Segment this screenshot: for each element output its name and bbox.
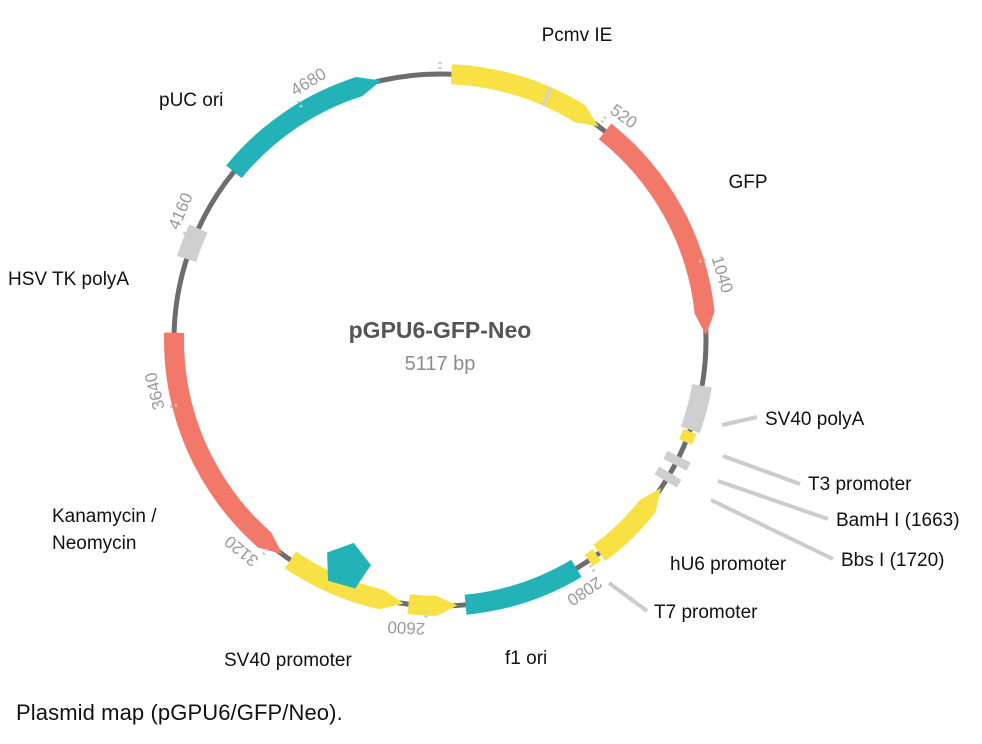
plasmid-map-figure: 5201040208026003120364041604680 Pcmv IEG…: [0, 0, 982, 744]
leader-t3: [723, 456, 800, 484]
tick-1040-label: 1040: [708, 254, 737, 296]
feature-bbs-i-site[interactable]: [657, 470, 679, 483]
label-hsv-tk-polya: HSV TK polyA: [8, 269, 129, 290]
figure-caption: Plasmid map (pGPU6/GFP/Neo).: [16, 700, 343, 726]
label-t3-promoter: T3 promoter: [808, 474, 912, 495]
leader-t7: [609, 583, 647, 611]
plasmid-name: pGPU6-GFP-Neo: [349, 317, 532, 343]
feature-gfp[interactable]: [599, 124, 715, 336]
feature-sv40-polya[interactable]: [681, 384, 712, 433]
tick-520-mark: [602, 114, 608, 122]
tick-2600-label: 2600: [387, 617, 426, 638]
feature-bamh-i-site[interactable]: [665, 455, 688, 467]
label-bbs-i: Bbs I (1720): [841, 550, 945, 571]
label-bamh-i: BamH I (1663): [836, 510, 960, 531]
tick-2080-mark: [590, 566, 596, 574]
feature-hu6-promoter[interactable]: [593, 488, 661, 561]
feature-f1-ori[interactable]: [465, 560, 582, 615]
label-sv40-polya: SV40 polyA: [765, 409, 865, 430]
tick-3640-label: 3640: [141, 370, 169, 411]
label-gfp: GFP: [728, 172, 767, 193]
feature-labels-layer: Pcmv IEGFPSV40 polyAT3 promoterBamH I (1…: [8, 25, 960, 671]
label-f1-ori: f1 ori: [505, 648, 547, 669]
label-t7-promoter: T7 promoter: [654, 602, 758, 623]
leader-bbs: [711, 500, 833, 559]
label-pcmv-ie: Pcmv IE: [542, 25, 613, 46]
feature-kan-neo[interactable]: [164, 332, 282, 554]
feature-sv40-promoter-a[interactable]: [407, 594, 457, 616]
label-puc-ori: pUC ori: [159, 90, 223, 111]
label-kan-1: Kanamycin /: [52, 506, 157, 527]
label-hu6-promoter: hU6 promoter: [670, 554, 787, 575]
teal-pentagon: [327, 543, 371, 589]
leader-sv40-polya: [722, 417, 757, 425]
tick-marks-layer: 5201040208026003120364041604680: [141, 59, 737, 638]
feature-pcmv-ie[interactable]: [451, 64, 599, 126]
label-kan-2: Neomycin: [52, 533, 136, 554]
plasmid-size: 5117 bp: [405, 353, 476, 375]
feature-t3-promoter[interactable]: [679, 429, 696, 445]
decorations-layer: [327, 543, 371, 589]
label-sv40-promoter: SV40 promoter: [224, 650, 352, 671]
